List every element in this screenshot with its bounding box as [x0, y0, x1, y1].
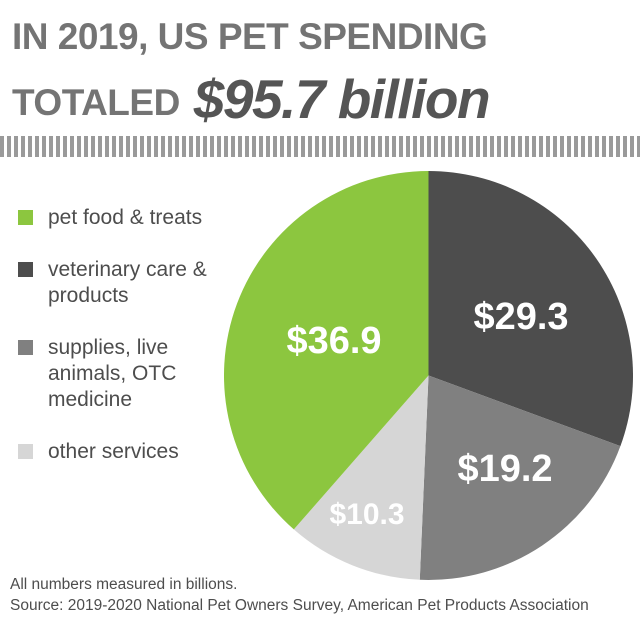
footnote-source: Source: 2019-2020 National Pet Owners Su…: [10, 595, 635, 616]
page-title-totaled-label: TOTALED: [12, 82, 180, 124]
chart-legend: pet food & treats veterinary care & prod…: [18, 205, 223, 491]
legend-item-other-services[interactable]: other services: [18, 439, 223, 465]
legend-item-label: other services: [48, 439, 179, 465]
footnote-units: All numbers measured in billions.: [10, 574, 635, 595]
pie-slice-value-label: $29.3: [473, 296, 568, 338]
legend-item-label: supplies, live animals, OTC medicine: [48, 335, 223, 413]
pie-slice-value-label: $10.3: [329, 498, 404, 531]
legend-swatch-icon: [18, 210, 33, 225]
pie-slice-value-label: $36.9: [286, 320, 381, 362]
total-amount-value: $95.7 billion: [194, 67, 489, 131]
page-title-line-1: IN 2019, US PET SPENDING: [12, 16, 487, 58]
tick-mark-divider: [0, 136, 640, 157]
pie-chart: $29.3$19.2$10.3$36.9: [224, 171, 633, 580]
legend-swatch-icon: [18, 444, 33, 459]
pie-slice-group: [224, 171, 633, 580]
pie-chart-svg: $29.3$19.2$10.3$36.9: [224, 171, 633, 580]
legend-item-label: pet food & treats: [48, 205, 202, 231]
page-title-line-2: TOTALED $95.7 billion: [12, 64, 489, 128]
legend-swatch-icon: [18, 262, 33, 277]
footer-notes: All numbers measured in billions. Source…: [10, 574, 635, 616]
legend-swatch-icon: [18, 340, 33, 355]
pie-slice-value-label: $19.2: [457, 448, 552, 490]
legend-item-label: veterinary care & products: [48, 257, 223, 309]
legend-item-veterinary-care[interactable]: veterinary care & products: [18, 257, 223, 309]
legend-item-pet-food[interactable]: pet food & treats: [18, 205, 223, 231]
header: IN 2019, US PET SPENDING TOTALED $95.7 b…: [0, 0, 640, 130]
legend-item-supplies[interactable]: supplies, live animals, OTC medicine: [18, 335, 223, 413]
